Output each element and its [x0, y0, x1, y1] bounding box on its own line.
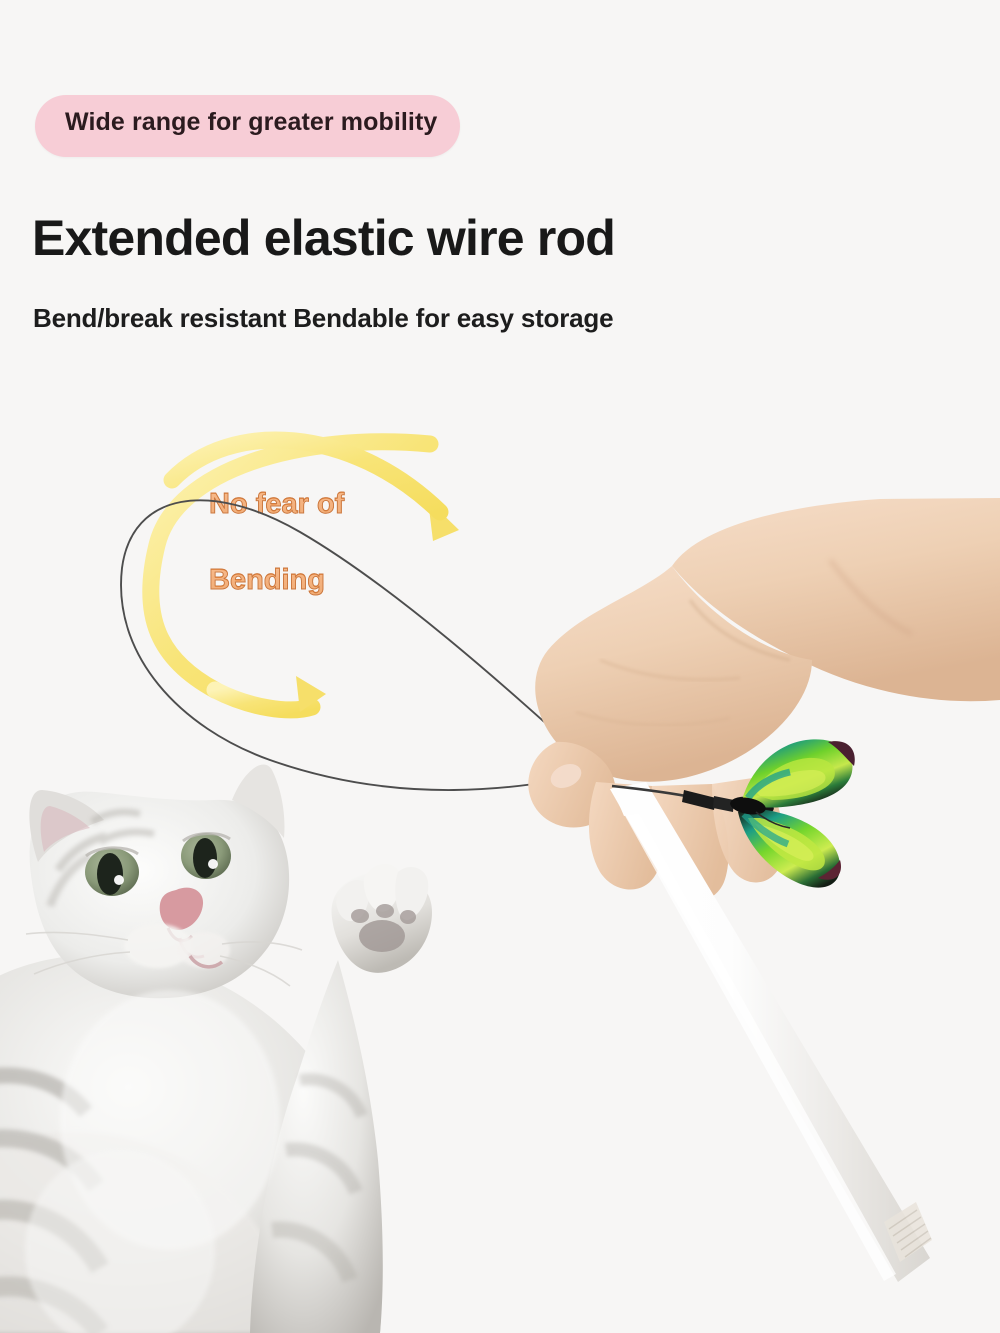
product-infographic: Wide range for greater mobility Extended…: [0, 0, 1000, 1333]
product-photo-layer: [0, 0, 1000, 1333]
silver-tabby-cat: [0, 765, 432, 1333]
